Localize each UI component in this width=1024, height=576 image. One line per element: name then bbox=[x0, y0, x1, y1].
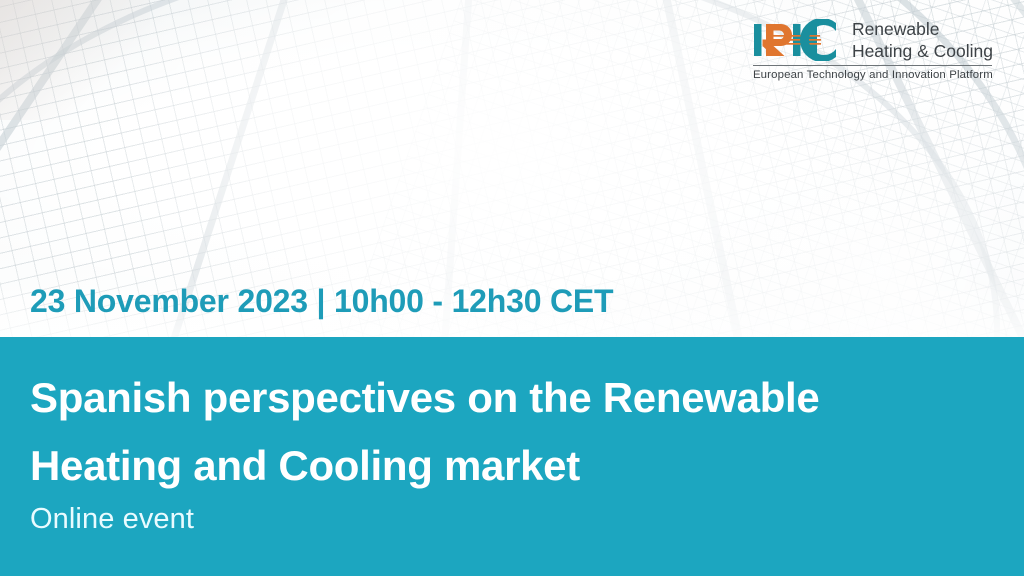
logo-tagline: European Technology and Innovation Platf… bbox=[753, 69, 993, 81]
event-date-time: 23 November 2023 | 10h00 - 12h30 CET bbox=[30, 283, 613, 320]
logo-wordmark: Renewable Heating & Cooling bbox=[852, 18, 993, 62]
logo-name-line-2: Heating & Cooling bbox=[852, 40, 993, 62]
logo-top-row: Renewable Heating & Cooling bbox=[753, 18, 993, 62]
teal-title-band: Spanish perspectives on the Renewable He… bbox=[0, 337, 1024, 576]
logo-divider-rule bbox=[753, 65, 992, 66]
rhc-logo: Renewable Heating & Cooling European Tec… bbox=[753, 18, 993, 81]
event-title: Spanish perspectives on the Renewable He… bbox=[30, 364, 960, 500]
event-banner: Renewable Heating & Cooling European Tec… bbox=[0, 0, 1024, 576]
logo-name-line-1: Renewable bbox=[852, 18, 993, 40]
irhc-logomark-icon bbox=[753, 19, 839, 61]
event-title-line-1: Spanish perspectives on the Renewable bbox=[30, 364, 960, 432]
event-title-line-2: Heating and Cooling market bbox=[30, 432, 960, 500]
event-format: Online event bbox=[30, 503, 194, 536]
photo-corner-tint bbox=[0, 0, 150, 120]
